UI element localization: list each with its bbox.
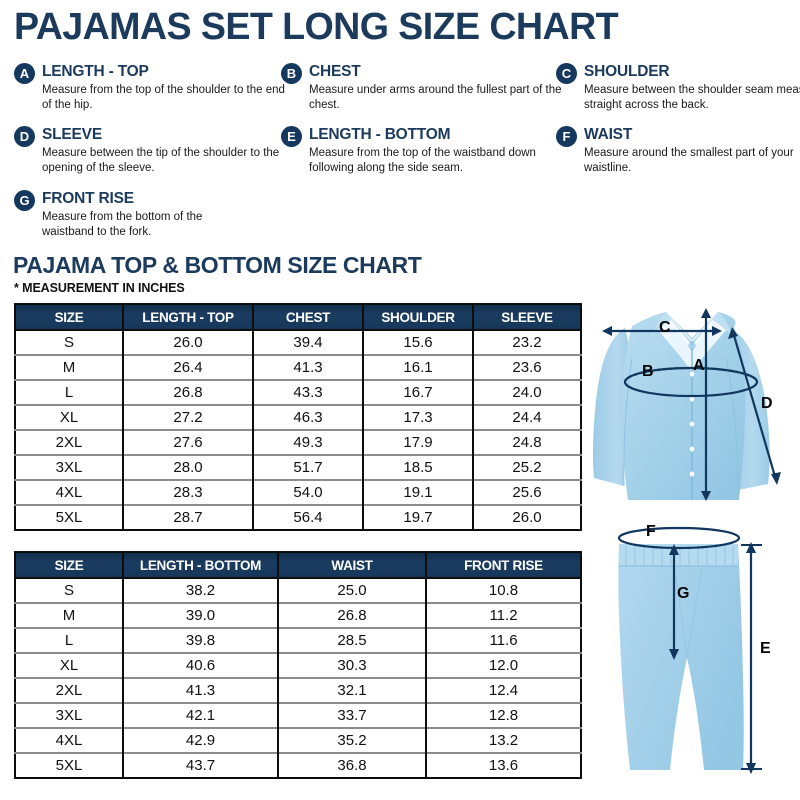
size-cell: 5XL <box>15 753 123 778</box>
measurement-cell: 28.3 <box>123 480 253 505</box>
guide-title-b: CHEST <box>309 63 361 81</box>
table-row: XL27.246.317.324.4 <box>15 405 581 430</box>
measurement-cell: 32.1 <box>278 678 426 703</box>
measurement-cell: 12.0 <box>426 653 581 678</box>
measurement-cell: 39.4 <box>253 330 363 355</box>
badge-g-icon: G <box>14 190 35 211</box>
size-cell: S <box>15 578 123 603</box>
measurement-cell: 17.3 <box>363 405 473 430</box>
table-row: 2XL41.332.112.4 <box>15 678 581 703</box>
measurement-cell: 30.3 <box>278 653 426 678</box>
measurement-cell: 24.8 <box>473 430 581 455</box>
measurement-cell: 33.7 <box>278 703 426 728</box>
measurement-cell: 17.9 <box>363 430 473 455</box>
measurement-cell: 25.0 <box>278 578 426 603</box>
dim-label-e: E <box>760 641 771 657</box>
measurement-cell: 24.4 <box>473 405 581 430</box>
measurement-cell: 24.0 <box>473 380 581 405</box>
table-row: XL40.630.312.0 <box>15 653 581 678</box>
measurement-cell: 51.7 <box>253 455 363 480</box>
table-row: 3XL42.133.712.8 <box>15 703 581 728</box>
measurement-cell: 12.8 <box>426 703 581 728</box>
measurement-cell: 13.6 <box>426 753 581 778</box>
badge-f-icon: F <box>556 126 577 147</box>
measurement-cell: 27.2 <box>123 405 253 430</box>
table-row: 5XL28.756.419.726.0 <box>15 505 581 530</box>
badge-e-icon: E <box>281 126 302 147</box>
measurement-cell: 38.2 <box>123 578 278 603</box>
column-header-front-rise: FRONT RISE <box>426 552 581 578</box>
column-header-sleeve: SLEEVE <box>473 304 581 330</box>
measurement-cell: 56.4 <box>253 505 363 530</box>
guide-title-a: LENGTH - TOP <box>42 63 149 81</box>
table-row: 4XL28.354.019.125.6 <box>15 480 581 505</box>
badge-a-icon: A <box>14 63 35 84</box>
measurement-cell: 26.0 <box>123 330 253 355</box>
table-row: S26.039.415.623.2 <box>15 330 581 355</box>
measurement-cell: 43.3 <box>253 380 363 405</box>
measurement-cell: 10.8 <box>426 578 581 603</box>
measurement-cell: 26.4 <box>123 355 253 380</box>
guide-title-e: LENGTH - BOTTOM <box>309 126 450 144</box>
dim-label-a: A <box>693 358 705 374</box>
guide-desc-a: Measure from the top of the shoulder to … <box>42 83 292 112</box>
pajama-illustration: C A B D <box>588 296 796 796</box>
measurement-cell: 28.5 <box>278 628 426 653</box>
dim-label-g: G <box>677 586 689 602</box>
measurement-cell: 16.7 <box>363 380 473 405</box>
measurement-cell: 40.6 <box>123 653 278 678</box>
column-header-length-top: LENGTH - TOP <box>123 304 253 330</box>
table-row: 5XL43.736.813.6 <box>15 753 581 778</box>
page-title: PAJAMAS SET LONG SIZE CHART <box>14 6 618 49</box>
size-cell: 5XL <box>15 505 123 530</box>
size-cell: L <box>15 380 123 405</box>
measurement-cell: 54.0 <box>253 480 363 505</box>
dim-label-b: B <box>642 364 654 380</box>
measurement-cell: 43.7 <box>123 753 278 778</box>
dim-label-f: F <box>646 524 656 540</box>
measurement-cell: 39.0 <box>123 603 278 628</box>
measurement-cell: 19.1 <box>363 480 473 505</box>
size-chart-page: PAJAMAS SET LONG SIZE CHART A LENGTH - T… <box>0 0 800 800</box>
guide-desc-c: Measure between the shoulder seam measur… <box>584 83 800 112</box>
measurement-cell: 11.6 <box>426 628 581 653</box>
measurement-cell: 19.7 <box>363 505 473 530</box>
measurement-cell: 35.2 <box>278 728 426 753</box>
guide-desc-d: Measure between the tip of the shoulder … <box>42 146 307 175</box>
measurement-cell: 26.0 <box>473 505 581 530</box>
measurement-guide: A LENGTH - TOP Measure from the top of t… <box>0 62 800 242</box>
measurement-cell: 46.3 <box>253 405 363 430</box>
dim-label-d: D <box>761 396 773 412</box>
guide-desc-f: Measure around the smallest part of your… <box>584 146 800 175</box>
guide-title-c: SHOULDER <box>584 63 669 81</box>
pajama-shirt-graphic <box>588 296 796 528</box>
size-cell: M <box>15 355 123 380</box>
size-cell: XL <box>15 653 123 678</box>
table-body: S26.039.415.623.2M26.441.316.123.6L26.84… <box>15 330 581 530</box>
size-cell: L <box>15 628 123 653</box>
measurement-cell: 23.2 <box>473 330 581 355</box>
table-row: L26.843.316.724.0 <box>15 380 581 405</box>
table-header-row: SIZELENGTH - BOTTOMWAISTFRONT RISE <box>15 552 581 578</box>
table-row: S38.225.010.8 <box>15 578 581 603</box>
column-header-length-bottom: LENGTH - BOTTOM <box>123 552 278 578</box>
size-cell: XL <box>15 405 123 430</box>
guide-desc-e: Measure from the top of the waistband do… <box>309 146 574 175</box>
measurement-cell: 13.2 <box>426 728 581 753</box>
column-header-size: SIZE <box>15 304 123 330</box>
size-cell: 4XL <box>15 480 123 505</box>
badge-c-icon: C <box>556 63 577 84</box>
table-row: 2XL27.649.317.924.8 <box>15 430 581 455</box>
measurement-cell: 11.2 <box>426 603 581 628</box>
measurement-cell: 16.1 <box>363 355 473 380</box>
column-header-chest: CHEST <box>253 304 363 330</box>
measurement-cell: 42.9 <box>123 728 278 753</box>
size-cell: 3XL <box>15 455 123 480</box>
size-cell: M <box>15 603 123 628</box>
table-row: 3XL28.051.718.525.2 <box>15 455 581 480</box>
measurement-cell: 28.7 <box>123 505 253 530</box>
measurement-cell: 15.6 <box>363 330 473 355</box>
table-row: L39.828.511.6 <box>15 628 581 653</box>
guide-desc-b: Measure under arms around the fullest pa… <box>309 83 574 112</box>
guide-title-d: SLEEVE <box>42 126 102 144</box>
column-header-shoulder: SHOULDER <box>363 304 473 330</box>
section-subheading: * MEASUREMENT IN INCHES <box>14 281 185 295</box>
measurement-cell: 23.6 <box>473 355 581 380</box>
table-header-row: SIZELENGTH - TOPCHESTSHOULDERSLEEVE <box>15 304 581 330</box>
badge-d-icon: D <box>14 126 35 147</box>
size-cell: 2XL <box>15 678 123 703</box>
measurement-cell: 39.8 <box>123 628 278 653</box>
pajama-top-size-table: SIZELENGTH - TOPCHESTSHOULDERSLEEVE S26.… <box>14 303 582 531</box>
column-header-size: SIZE <box>15 552 123 578</box>
size-cell: S <box>15 330 123 355</box>
guide-title-f: WAIST <box>584 126 632 144</box>
guide-desc-g: Measure from the bottom of the waistband… <box>42 210 242 239</box>
measurement-cell: 18.5 <box>363 455 473 480</box>
measurement-cell: 25.6 <box>473 480 581 505</box>
measurement-cell: 49.3 <box>253 430 363 455</box>
size-cell: 2XL <box>15 430 123 455</box>
badge-b-icon: B <box>281 63 302 84</box>
column-header-waist: WAIST <box>278 552 426 578</box>
guide-title-g: FRONT RISE <box>42 190 134 208</box>
measurement-cell: 12.4 <box>426 678 581 703</box>
measurement-cell: 36.8 <box>278 753 426 778</box>
measurement-cell: 26.8 <box>123 380 253 405</box>
measurement-cell: 42.1 <box>123 703 278 728</box>
table-row: M26.441.316.123.6 <box>15 355 581 380</box>
table-row: M39.026.811.2 <box>15 603 581 628</box>
measurement-cell: 41.3 <box>253 355 363 380</box>
pajama-bottom-size-table: SIZELENGTH - BOTTOMWAISTFRONT RISE S38.2… <box>14 551 582 779</box>
section-heading: PAJAMA TOP & BOTTOM SIZE CHART <box>13 252 421 279</box>
measurement-cell: 28.0 <box>123 455 253 480</box>
measurement-cell: 41.3 <box>123 678 278 703</box>
table-body: S38.225.010.8M39.026.811.2L39.828.511.6X… <box>15 578 581 778</box>
measurement-cell: 25.2 <box>473 455 581 480</box>
measurement-cell: 26.8 <box>278 603 426 628</box>
table-row: 4XL42.935.213.2 <box>15 728 581 753</box>
size-cell: 3XL <box>15 703 123 728</box>
dim-label-c: C <box>659 320 671 336</box>
measurement-cell: 27.6 <box>123 430 253 455</box>
size-cell: 4XL <box>15 728 123 753</box>
